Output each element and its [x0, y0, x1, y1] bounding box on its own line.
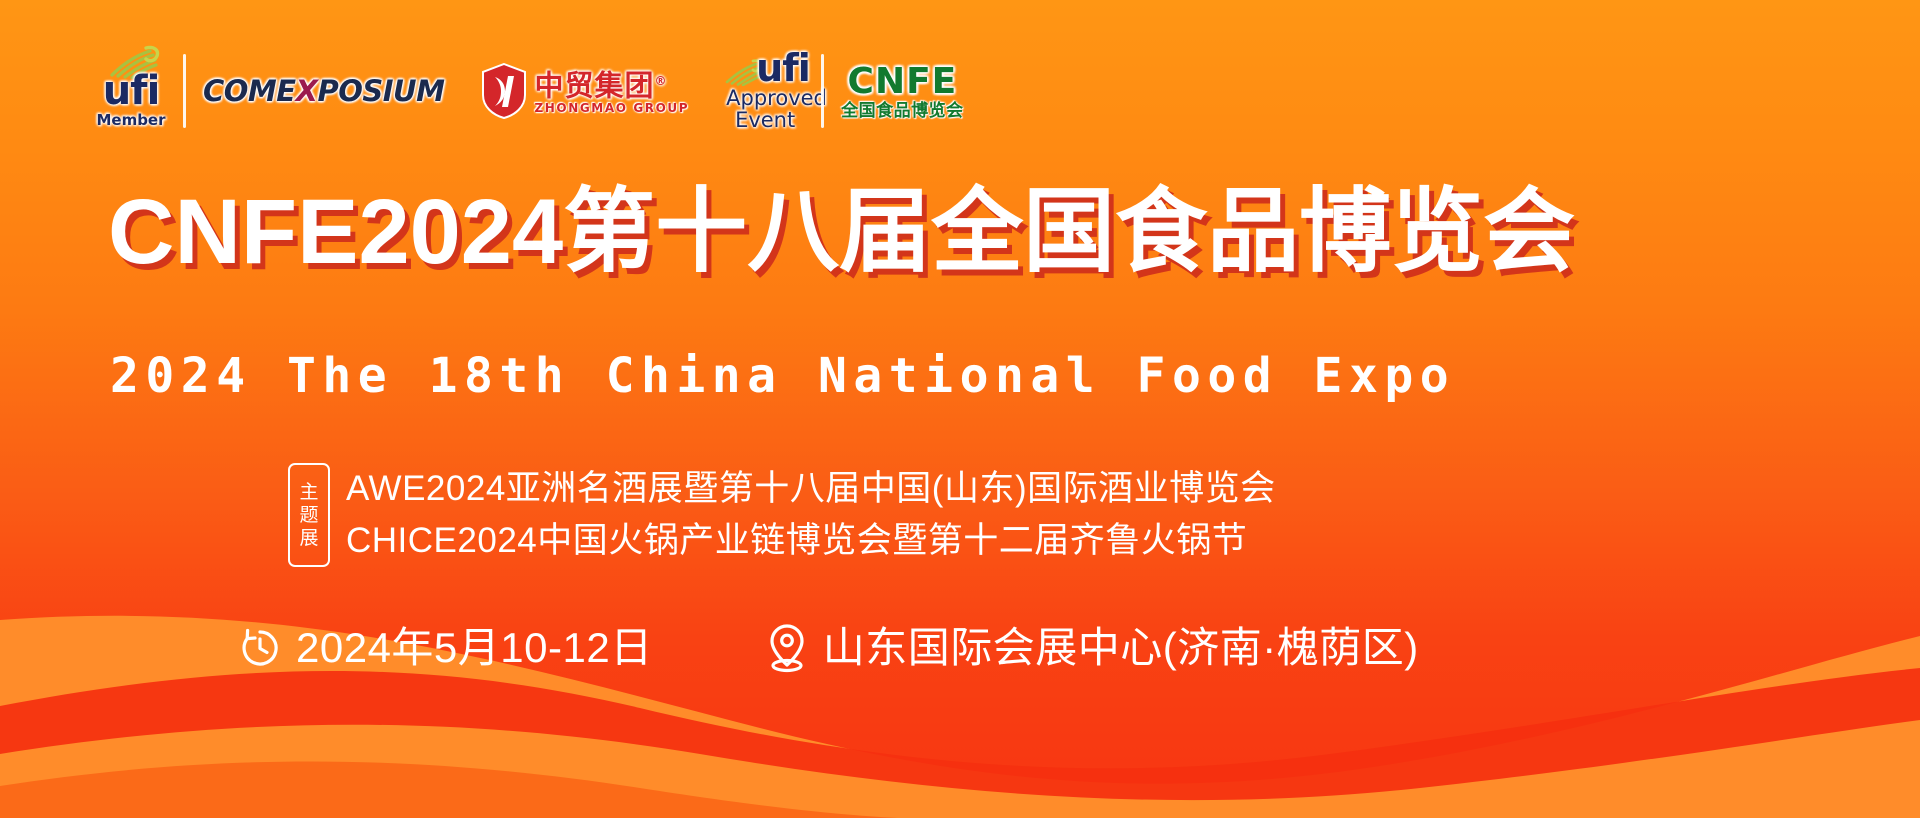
partner-logo-strip: ufi Member COMEXPOSIUM 中贸集团® ZHONGMAO GR…: [96, 42, 964, 140]
logo-divider: [183, 54, 186, 128]
comexposium-part2: POSIUM: [317, 76, 444, 106]
event-banner: ufi Member COMEXPOSIUM 中贸集团® ZHONGMAO GR…: [0, 0, 1920, 818]
ufi-approved-event-logo: ufi Approved Event: [726, 45, 804, 137]
comexposium-x: X: [296, 76, 318, 106]
cnfe-logo: CNFE 全国食品博览会: [841, 56, 964, 126]
ufi-approved-wordmark: ufi: [756, 49, 810, 87]
theme-badge-char-1: 主: [299, 481, 318, 504]
ufi-event-label: Event: [726, 109, 804, 132]
theme-exhibition-line: CHICE2024中国火锅产业链博览会暨第十二届齐鲁火锅节: [346, 515, 1276, 567]
theme-exhibition-list: AWE2024亚洲名酒展暨第十八届中国(山东)国际酒业博览会 CHICE2024…: [346, 463, 1276, 567]
event-date-item: 2024年5月10-12日: [238, 622, 653, 674]
zhongmao-emblem-icon: [481, 63, 527, 119]
logo-divider: [821, 54, 824, 128]
registered-mark: ®: [654, 74, 667, 88]
zhongmao-cn-name: 中贸集团®: [534, 66, 689, 102]
event-date: 2024年5月10-12日: [296, 622, 653, 674]
event-location-item: 山东国际会展中心(济南·槐荫区): [765, 622, 1419, 674]
ufi-member-label: Member: [96, 113, 166, 128]
cnfe-cn-name: 全国食品博览会: [841, 101, 964, 120]
zhongmao-en-name: ZHONGMAO GROUP: [534, 101, 689, 116]
event-info-row: 2024年5月10-12日 山东国际会展中心(济南·槐荫区): [238, 622, 1419, 674]
clock-icon: [238, 626, 282, 670]
event-title-en: 2024 The 18th China National Food Expo: [110, 348, 1455, 404]
comexposium-part1: COME: [203, 76, 296, 106]
comexposium-logo: COMEXPOSIUM: [203, 71, 444, 111]
ufi-member-logo: ufi Member: [96, 43, 166, 139]
cnfe-wordmark: CNFE: [848, 63, 958, 101]
theme-badge-char-2: 题: [299, 504, 318, 527]
zhongmao-group-logo: 中贸集团® ZHONGMAO GROUP: [481, 60, 689, 122]
ufi-approved-label: Approved: [726, 87, 804, 110]
event-title-cn: CNFE2024第十八届全国食品博览会: [108, 182, 1575, 282]
theme-exhibitions: 主 题 展 AWE2024亚洲名酒展暨第十八届中国(山东)国际酒业博览会 CHI…: [288, 463, 1276, 567]
ufi-wordmark: ufi: [96, 71, 166, 111]
map-pin-icon: [765, 623, 809, 673]
theme-exhibition-line: AWE2024亚洲名酒展暨第十八届中国(山东)国际酒业博览会: [346, 463, 1276, 515]
theme-badge: 主 题 展: [288, 463, 330, 567]
event-location: 山东国际会展中心(济南·槐荫区): [823, 622, 1419, 674]
theme-badge-char-3: 展: [299, 527, 318, 550]
